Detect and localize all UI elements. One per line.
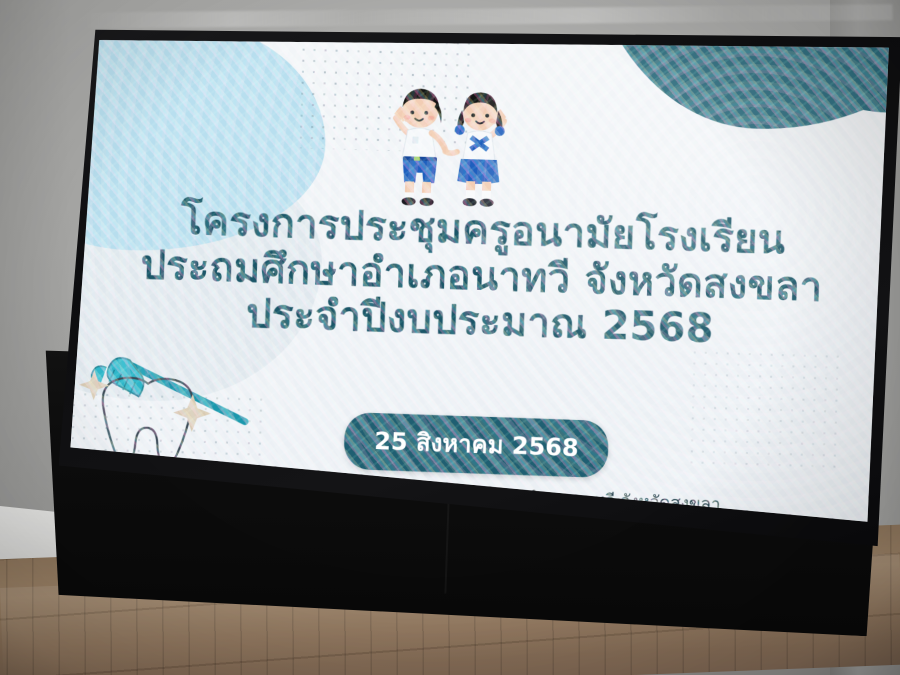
girl-figure	[453, 92, 507, 207]
boy-figure	[392, 88, 447, 206]
dot-grid-bottom-right	[686, 347, 839, 471]
room-photo: โครงการประชุมครูอนามัยโรงเรียน ประถมศึกษ…	[0, 0, 900, 675]
event-date-badge: 25 สิงหาคม 2568	[343, 412, 609, 478]
bezel-highlight	[86, 4, 892, 28]
display-screen-unit[interactable]: โครงการประชุมครูอนามัยโรงเรียน ประถมศึกษ…	[13, 0, 900, 643]
slide-title: โครงการประชุมครูอนามัยโรงเรียน ประถมศึกษ…	[65, 194, 894, 359]
toothbrush-icon	[90, 357, 246, 422]
schoolchildren-illustration	[373, 79, 527, 213]
